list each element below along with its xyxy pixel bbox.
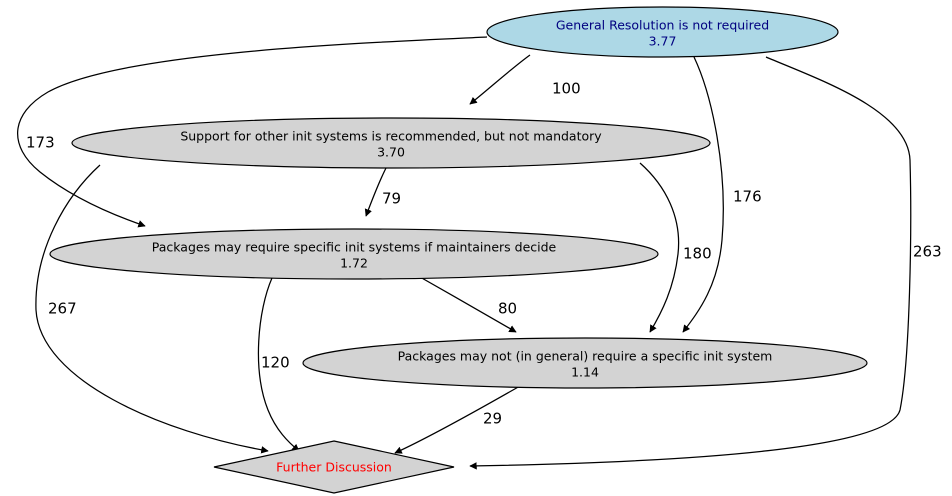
edge-label-80: 80 — [498, 300, 517, 318]
node-title-support-other-init: Support for other init systems is recomm… — [180, 129, 602, 144]
edge-gr-to-maynot — [683, 57, 723, 332]
edge-label-173: 173 — [26, 134, 55, 152]
node-gr-not-required[interactable]: General Resolution is not required 3.77 — [487, 7, 838, 57]
node-title-packages-may-not-require: Packages may not (in general) require a … — [398, 349, 773, 364]
node-packages-may-not-require[interactable]: Packages may not (in general) require a … — [303, 338, 867, 388]
edge-label-263: 263 — [913, 243, 942, 261]
edge-label-79: 79 — [382, 190, 401, 208]
edge-label-267: 267 — [48, 300, 77, 318]
vote-graph-svg: 100 173 176 263 79 180 267 80 120 29 Gen… — [0, 0, 952, 496]
node-score-packages-may-not-require: 1.14 — [571, 365, 599, 380]
node-title-further-discussion: Further Discussion — [276, 460, 392, 475]
node-title-gr-not-required: General Resolution is not required — [556, 18, 769, 33]
edge-label-176: 176 — [733, 188, 762, 206]
edge-gr-to-support — [470, 55, 530, 104]
node-further-discussion[interactable]: Further Discussion — [214, 441, 454, 493]
node-packages-may-require[interactable]: Packages may require specific init syste… — [50, 229, 658, 279]
edge-label-100: 100 — [552, 80, 581, 98]
node-title-packages-may-require: Packages may require specific init syste… — [152, 240, 557, 255]
node-score-gr-not-required: 3.77 — [649, 34, 677, 49]
node-support-other-init[interactable]: Support for other init systems is recomm… — [72, 118, 710, 168]
edge-label-180: 180 — [683, 245, 712, 263]
node-score-packages-may-require: 1.72 — [340, 256, 368, 271]
edge-label-29: 29 — [483, 410, 502, 428]
graph-canvas: 100 173 176 263 79 180 267 80 120 29 Gen… — [0, 0, 952, 496]
edge-label-120: 120 — [261, 354, 290, 372]
node-score-support-other-init: 3.70 — [377, 145, 405, 160]
